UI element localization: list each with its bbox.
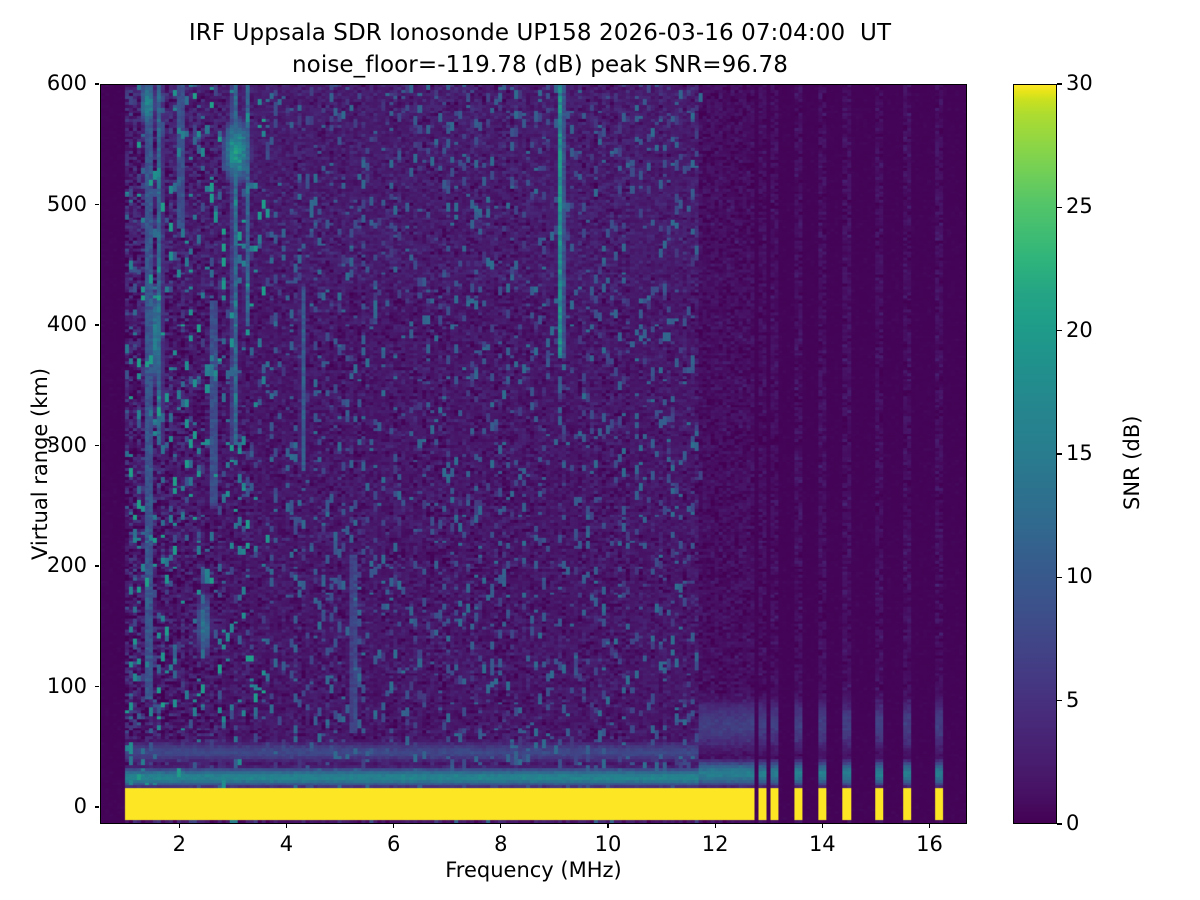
ionogram-figure: IRF Uppsala SDR Ionosonde UP158 2026-03-… bbox=[0, 0, 1200, 900]
x-tick-mark bbox=[607, 824, 608, 828]
y-axis-label: Virtual range (km) bbox=[28, 368, 52, 560]
colorbar-gradient bbox=[1014, 85, 1056, 823]
colorbar-tick-label: 15 bbox=[1066, 441, 1093, 465]
y-tick-mark bbox=[95, 686, 99, 687]
x-tick-label: 4 bbox=[246, 832, 326, 856]
colorbar-tick-label: 0 bbox=[1066, 811, 1079, 835]
colorbar-tick-label: 10 bbox=[1066, 564, 1093, 588]
y-tick-label: 200 bbox=[47, 553, 87, 577]
colorbar bbox=[1013, 84, 1057, 824]
x-tick-label: 2 bbox=[139, 832, 219, 856]
x-tick-label: 6 bbox=[354, 832, 434, 856]
colorbar-tick-mark bbox=[1057, 700, 1062, 701]
colorbar-tick-mark bbox=[1057, 823, 1062, 824]
colorbar-tick-mark bbox=[1057, 330, 1062, 331]
y-tick-mark bbox=[95, 806, 99, 807]
y-tick-mark bbox=[95, 445, 99, 446]
y-tick-mark bbox=[95, 83, 99, 84]
y-tick-label: 0 bbox=[74, 794, 87, 818]
colorbar-label: SNR (dB) bbox=[1120, 416, 1144, 510]
x-tick-mark bbox=[715, 824, 716, 828]
x-tick-label: 16 bbox=[889, 832, 969, 856]
x-tick-mark bbox=[822, 824, 823, 828]
colorbar-tick-label: 5 bbox=[1066, 688, 1079, 712]
y-tick-mark bbox=[95, 204, 99, 205]
x-tick-label: 12 bbox=[675, 832, 755, 856]
figure-subtitle-line-2: noise_floor=-119.78 (dB) peak SNR=96.78 bbox=[0, 52, 1080, 78]
x-tick-label: 10 bbox=[568, 832, 648, 856]
x-tick-mark bbox=[929, 824, 930, 828]
ionogram-plot-area bbox=[100, 84, 967, 824]
x-tick-mark bbox=[393, 824, 394, 828]
x-tick-mark bbox=[179, 824, 180, 828]
figure-title-line-1: IRF Uppsala SDR Ionosonde UP158 2026-03-… bbox=[0, 20, 1080, 46]
y-tick-mark bbox=[95, 324, 99, 325]
y-tick-label: 500 bbox=[47, 192, 87, 216]
colorbar-tick-mark bbox=[1057, 577, 1062, 578]
ionogram-heatmap-canvas bbox=[101, 85, 966, 823]
x-tick-label: 8 bbox=[461, 832, 541, 856]
colorbar-tick-label: 30 bbox=[1066, 71, 1093, 95]
colorbar-tick-label: 20 bbox=[1066, 318, 1093, 342]
y-tick-label: 400 bbox=[47, 312, 87, 336]
x-tick-mark bbox=[500, 824, 501, 828]
x-tick-mark bbox=[286, 824, 287, 828]
y-tick-label: 300 bbox=[47, 433, 87, 457]
colorbar-tick-mark bbox=[1057, 453, 1062, 454]
x-tick-label: 14 bbox=[782, 832, 862, 856]
colorbar-tick-mark bbox=[1057, 207, 1062, 208]
y-tick-label: 600 bbox=[47, 71, 87, 95]
y-tick-label: 100 bbox=[47, 674, 87, 698]
x-axis-label: Frequency (MHz) bbox=[100, 858, 967, 882]
colorbar-tick-label: 25 bbox=[1066, 194, 1093, 218]
y-tick-mark bbox=[95, 565, 99, 566]
colorbar-tick-mark bbox=[1057, 83, 1062, 84]
